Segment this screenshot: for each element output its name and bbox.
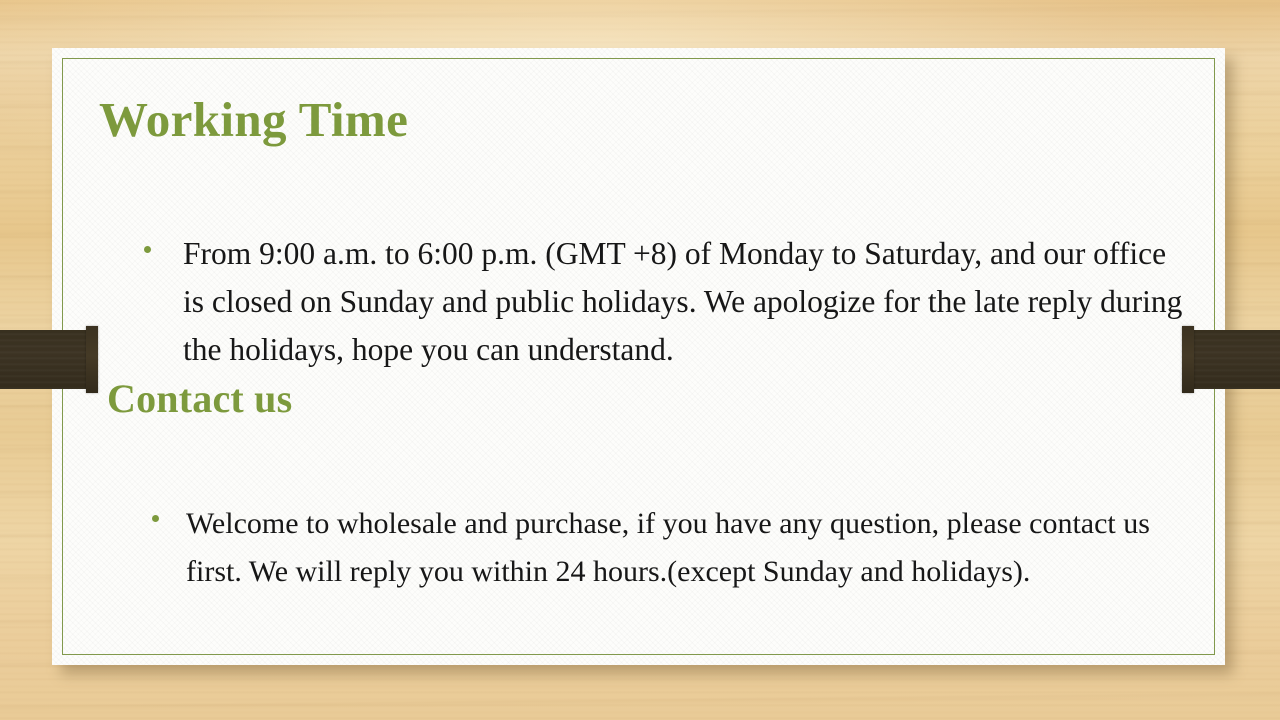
slide-subtitle-contact-us: Contact us [107, 378, 292, 420]
presentation-slide: Working Time From 9:00 a.m. to 6:00 p.m.… [0, 0, 1280, 720]
bullet-text-working-time: From 9:00 a.m. to 6:00 p.m. (GMT +8) of … [151, 230, 1184, 374]
bullet-text-contact-us: Welcome to wholesale and purchase, if yo… [159, 500, 1192, 596]
bullet-dot-icon [152, 515, 159, 522]
slide-content: Working Time From 9:00 a.m. to 6:00 p.m.… [52, 48, 1225, 665]
bullet-dot-icon [144, 246, 151, 253]
slide-title: Working Time [99, 94, 408, 145]
bullet-item-working-time: From 9:00 a.m. to 6:00 p.m. (GMT +8) of … [144, 230, 1184, 374]
bullet-item-contact-us: Welcome to wholesale and purchase, if yo… [152, 500, 1192, 596]
